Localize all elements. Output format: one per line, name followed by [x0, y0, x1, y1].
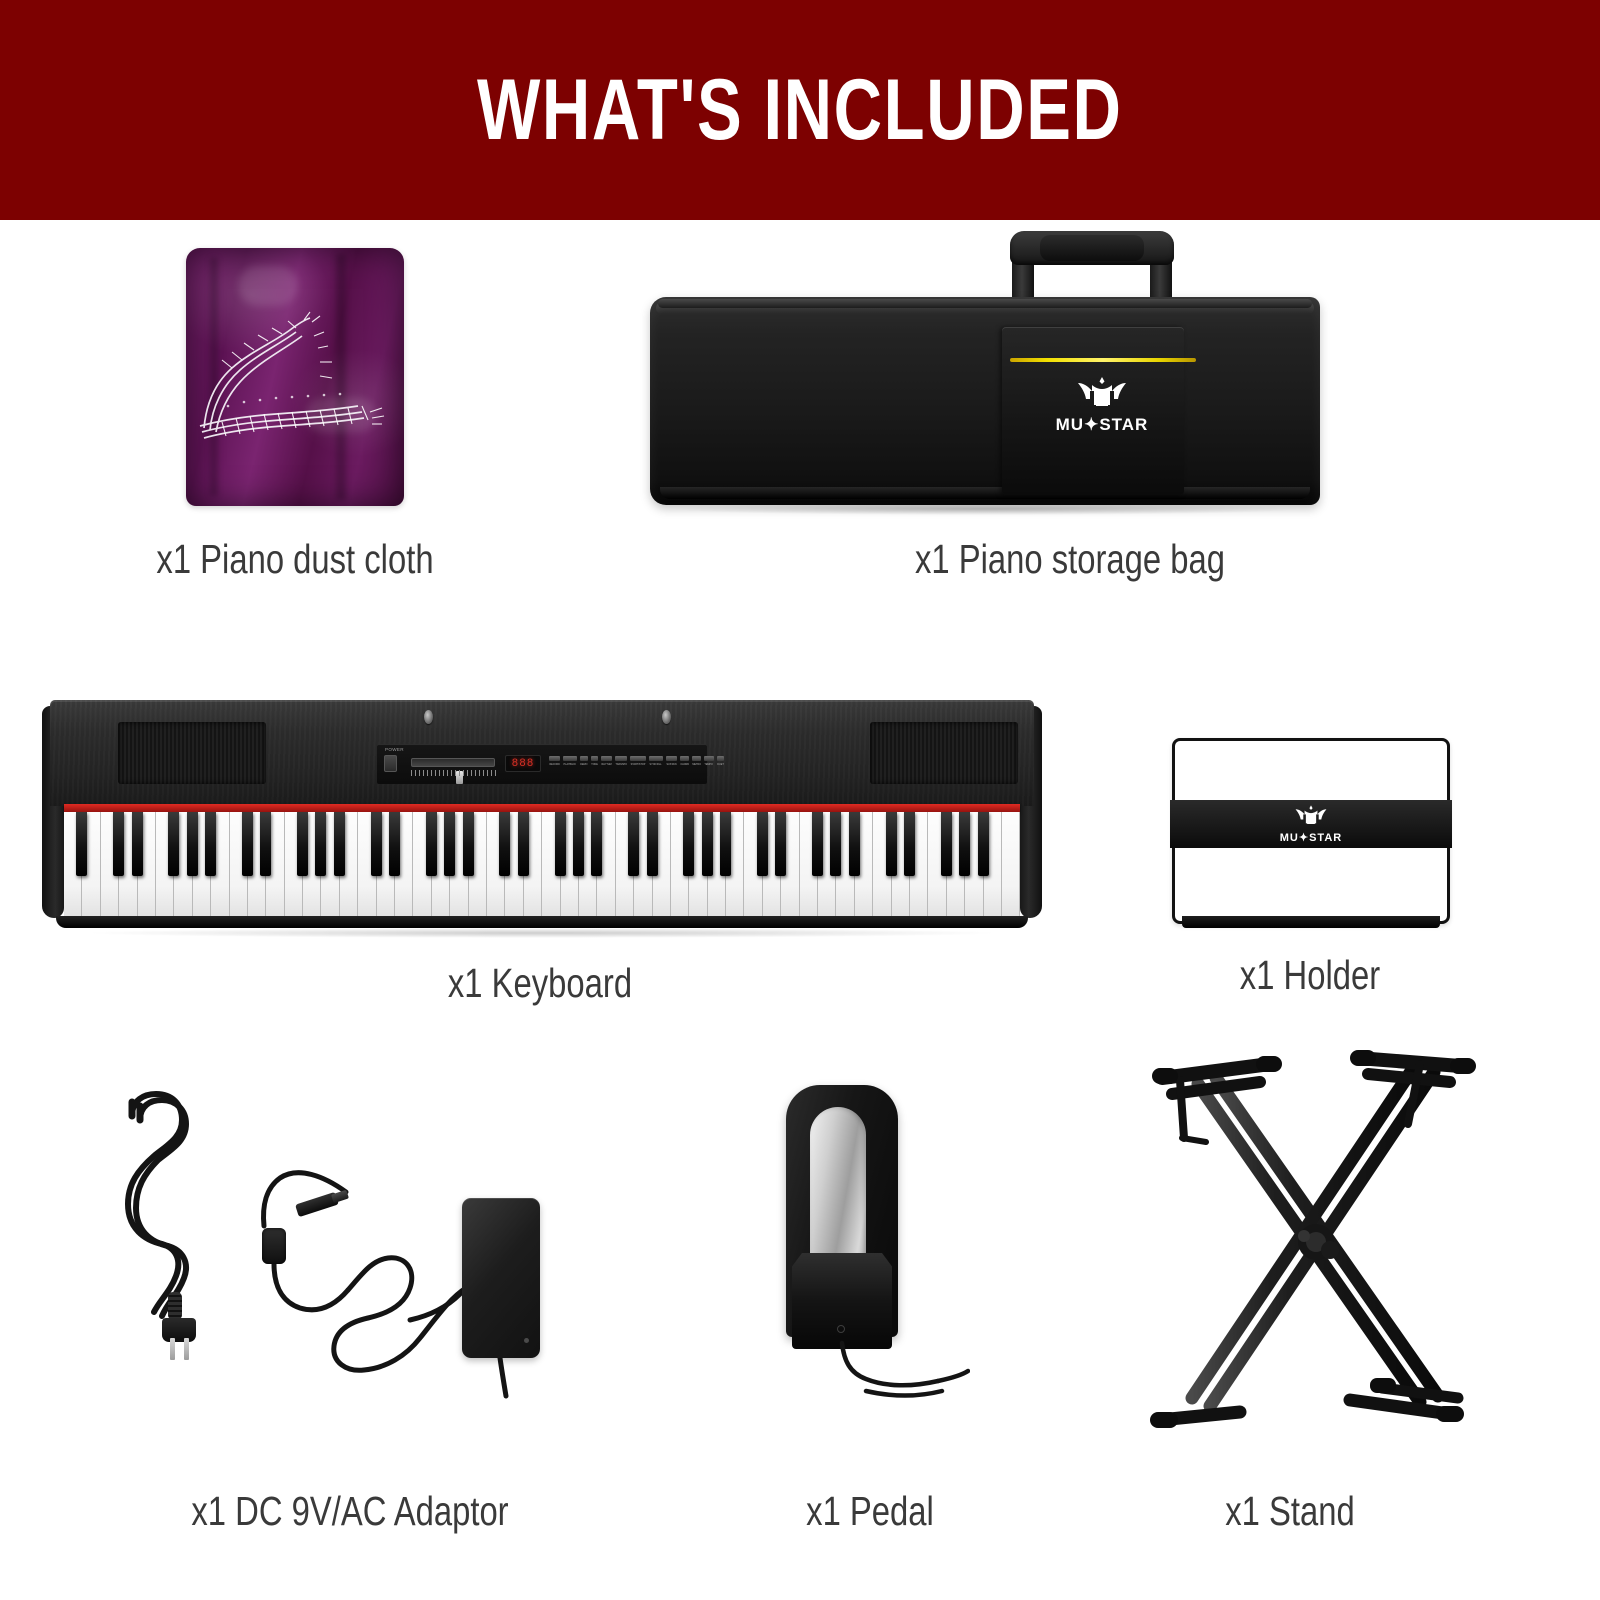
piano-black-key[interactable]	[76, 812, 87, 876]
function-button-cap	[615, 756, 628, 761]
function-button[interactable]: TONE	[591, 756, 598, 782]
function-button-cap	[563, 756, 577, 761]
piano-black-key[interactable]	[297, 812, 308, 876]
crown-m-emblem-icon	[1293, 804, 1329, 826]
function-button[interactable]: DEMO	[580, 756, 588, 782]
function-button-cap	[549, 756, 560, 761]
function-button[interactable]: DUET	[717, 756, 724, 782]
function-button-row: RECORD PLAYBACK DEMO TONE RHYTHM TRANSPO…	[549, 756, 701, 782]
piano-black-key[interactable]	[959, 812, 970, 876]
caption-storage-bag: x1 Piano storage bag	[822, 536, 1318, 583]
piano-black-key[interactable]	[389, 812, 400, 876]
lace-trim-icon	[192, 310, 398, 440]
x-stand-frame	[1120, 1020, 1490, 1440]
function-button-label: TRANSPO	[615, 763, 627, 766]
piano-black-key[interactable]	[168, 812, 179, 876]
piano-white-key[interactable]	[800, 812, 818, 918]
keyboard-drop-shadow	[82, 928, 1002, 938]
function-button[interactable]: PLAYBACK	[563, 756, 577, 782]
piano-white-key[interactable]	[156, 812, 174, 918]
piano-black-key[interactable]	[849, 812, 860, 876]
crown-m-emblem-icon	[1074, 375, 1130, 409]
piano-white-key[interactable]	[542, 812, 560, 918]
function-button-label: TEMPO	[705, 763, 713, 766]
piano-black-key[interactable]	[463, 812, 474, 876]
function-button-label: SUSTAIN	[666, 763, 676, 766]
piano-black-key[interactable]	[683, 812, 694, 876]
piano-black-key[interactable]	[187, 812, 198, 876]
piano-white-key[interactable]	[1002, 812, 1020, 918]
function-button[interactable]: START/STOP	[630, 756, 646, 782]
caption-keyboard: x1 Keyboard	[356, 960, 724, 1007]
piano-white-key[interactable]	[671, 812, 689, 918]
piano-white-key[interactable]	[285, 812, 303, 918]
power-brick-led	[524, 1338, 529, 1343]
piano-black-key[interactable]	[371, 812, 382, 876]
piano-black-key[interactable]	[242, 812, 253, 876]
bag-drop-shadow	[676, 503, 1296, 515]
cord-strain-relief	[168, 1292, 182, 1320]
caption-dust-cloth: x1 Piano dust cloth	[123, 536, 467, 583]
keybed[interactable]	[64, 812, 1020, 918]
volume-scale-marks	[411, 770, 497, 776]
holder-base-bar	[1182, 916, 1440, 928]
piano-black-key[interactable]	[720, 812, 731, 876]
function-button-cap	[649, 756, 662, 761]
function-button-cap	[591, 756, 598, 761]
led-display-value: 888	[512, 758, 535, 770]
bag-body	[650, 297, 1320, 505]
piano-black-key[interactable]	[444, 812, 455, 876]
function-button[interactable]: SUSTAIN	[666, 756, 677, 782]
function-button-label: SYNC/FILL	[650, 763, 662, 766]
piano-black-key[interactable]	[591, 812, 602, 876]
bag-handle-grip	[1040, 235, 1144, 261]
function-button-label: RHYTHM	[601, 763, 611, 766]
piano-white-key[interactable]	[413, 812, 431, 918]
piano-white-key[interactable]	[358, 812, 376, 918]
piano-white-key[interactable]	[101, 812, 119, 918]
piano-black-key[interactable]	[555, 812, 566, 876]
function-button-cap	[580, 756, 588, 761]
volume-slider[interactable]	[411, 758, 495, 767]
item-image-stand	[1120, 1020, 1490, 1440]
function-button-label: START/STOP	[631, 763, 646, 766]
function-button[interactable]: TRANSPO	[615, 756, 628, 782]
power-button[interactable]	[384, 755, 397, 772]
function-button-cap	[601, 756, 612, 761]
function-button-label: PLAYBACK	[564, 763, 576, 766]
item-image-keyboard: POWER 888 RECORD PLAYBACK DEMO TONE RHYT…	[42, 700, 1042, 932]
piano-black-key[interactable]	[518, 812, 529, 876]
control-panel: POWER 888 RECORD PLAYBACK DEMO TONE RHYT…	[377, 744, 707, 784]
caption-adaptor: x1 DC 9V/AC Adaptor	[110, 1488, 590, 1535]
function-button-label: DUET	[717, 763, 723, 766]
speaker-grille-left	[118, 722, 266, 784]
function-button[interactable]: TEMPO	[704, 756, 713, 782]
item-image-dust-cloth	[186, 248, 404, 506]
pedal-screw	[837, 1325, 845, 1333]
holder-brand-logo: MU✦STAR	[1280, 804, 1342, 844]
pedal-cable	[770, 1335, 970, 1415]
piano-black-key[interactable]	[113, 812, 124, 876]
chassis-screw	[662, 710, 671, 724]
piano-black-key[interactable]	[812, 812, 823, 876]
led-display: 888	[505, 755, 541, 772]
piano-black-key[interactable]	[757, 812, 768, 876]
holder-logo-band: MU✦STAR	[1170, 800, 1452, 848]
page-title: WHAT'S INCLUDED	[477, 61, 1122, 160]
power-brick	[462, 1198, 540, 1358]
piano-black-key[interactable]	[628, 812, 639, 876]
bag-brand-logo: MU✦STAR	[1038, 375, 1166, 435]
piano-black-key[interactable]	[426, 812, 437, 876]
function-button[interactable]: RHYTHM	[601, 756, 612, 782]
bag-seam	[660, 487, 1310, 499]
bag-brand-wordmark: MU✦STAR	[1038, 415, 1166, 435]
piano-black-key[interactable]	[830, 812, 841, 876]
cloth-highlight	[238, 266, 298, 306]
ac-plug-head	[162, 1318, 196, 1342]
item-image-adaptor	[110, 1080, 590, 1400]
piano-white-key[interactable]	[873, 812, 891, 918]
holder-brand-wordmark: MU✦STAR	[1280, 831, 1342, 844]
piano-black-key[interactable]	[886, 812, 897, 876]
caption-pedal: x1 Pedal	[686, 1488, 1054, 1535]
speaker-grille-right	[870, 722, 1018, 784]
piano-black-key[interactable]	[904, 812, 915, 876]
ferrite-bead	[262, 1228, 286, 1264]
item-image-pedal	[770, 1085, 970, 1405]
bag-zipper	[1010, 358, 1196, 362]
chassis-screw	[424, 710, 433, 724]
function-button-label: CHORD	[680, 763, 689, 766]
function-button-label: TONE	[591, 763, 598, 766]
piano-black-key[interactable]	[132, 812, 143, 876]
function-button-cap	[630, 756, 646, 761]
piano-black-key[interactable]	[647, 812, 658, 876]
function-button-label: METRO	[692, 763, 701, 766]
function-button-label: RECORD	[549, 763, 559, 766]
piano-white-key[interactable]	[230, 812, 248, 918]
piano-black-key[interactable]	[334, 812, 345, 876]
piano-black-key[interactable]	[941, 812, 952, 876]
piano-black-key[interactable]	[315, 812, 326, 876]
piano-white-key[interactable]	[928, 812, 946, 918]
function-button[interactable]: CHORD	[680, 756, 690, 782]
keyboard-base	[56, 916, 1028, 928]
caption-stand: x1 Stand	[1106, 1488, 1474, 1535]
piano-white-key[interactable]	[64, 812, 82, 918]
function-button[interactable]: METRO	[692, 756, 701, 782]
ac-plug-prong	[170, 1338, 175, 1360]
item-image-storage-bag: MU✦STAR	[650, 235, 1320, 510]
caption-holder: x1 Holder	[1166, 952, 1454, 999]
piano-black-key[interactable]	[702, 812, 713, 876]
piano-white-key[interactable]	[744, 812, 762, 918]
item-image-holder: MU✦STAR	[1172, 738, 1450, 924]
function-button-cap	[680, 756, 690, 761]
function-button-cap	[704, 756, 713, 761]
power-label: POWER	[385, 747, 404, 752]
piano-black-key[interactable]	[573, 812, 584, 876]
piano-white-key[interactable]	[487, 812, 505, 918]
function-button[interactable]: RECORD	[549, 756, 560, 782]
function-button-cap	[717, 756, 724, 761]
piano-black-key[interactable]	[978, 812, 989, 876]
pedal-footplate	[810, 1107, 866, 1275]
piano-black-key[interactable]	[499, 812, 510, 876]
piano-black-key[interactable]	[775, 812, 786, 876]
header-banner: WHAT'S INCLUDED	[0, 0, 1600, 220]
piano-white-key[interactable]	[616, 812, 634, 918]
ac-plug-prong	[184, 1338, 189, 1360]
function-button[interactable]: SYNC/FILL	[649, 756, 662, 782]
function-button-cap	[666, 756, 677, 761]
bag-seam	[658, 299, 1312, 308]
piano-black-key[interactable]	[260, 812, 271, 876]
piano-black-key[interactable]	[205, 812, 216, 876]
function-button-label: DEMO	[580, 763, 587, 766]
function-button-cap	[692, 756, 701, 761]
